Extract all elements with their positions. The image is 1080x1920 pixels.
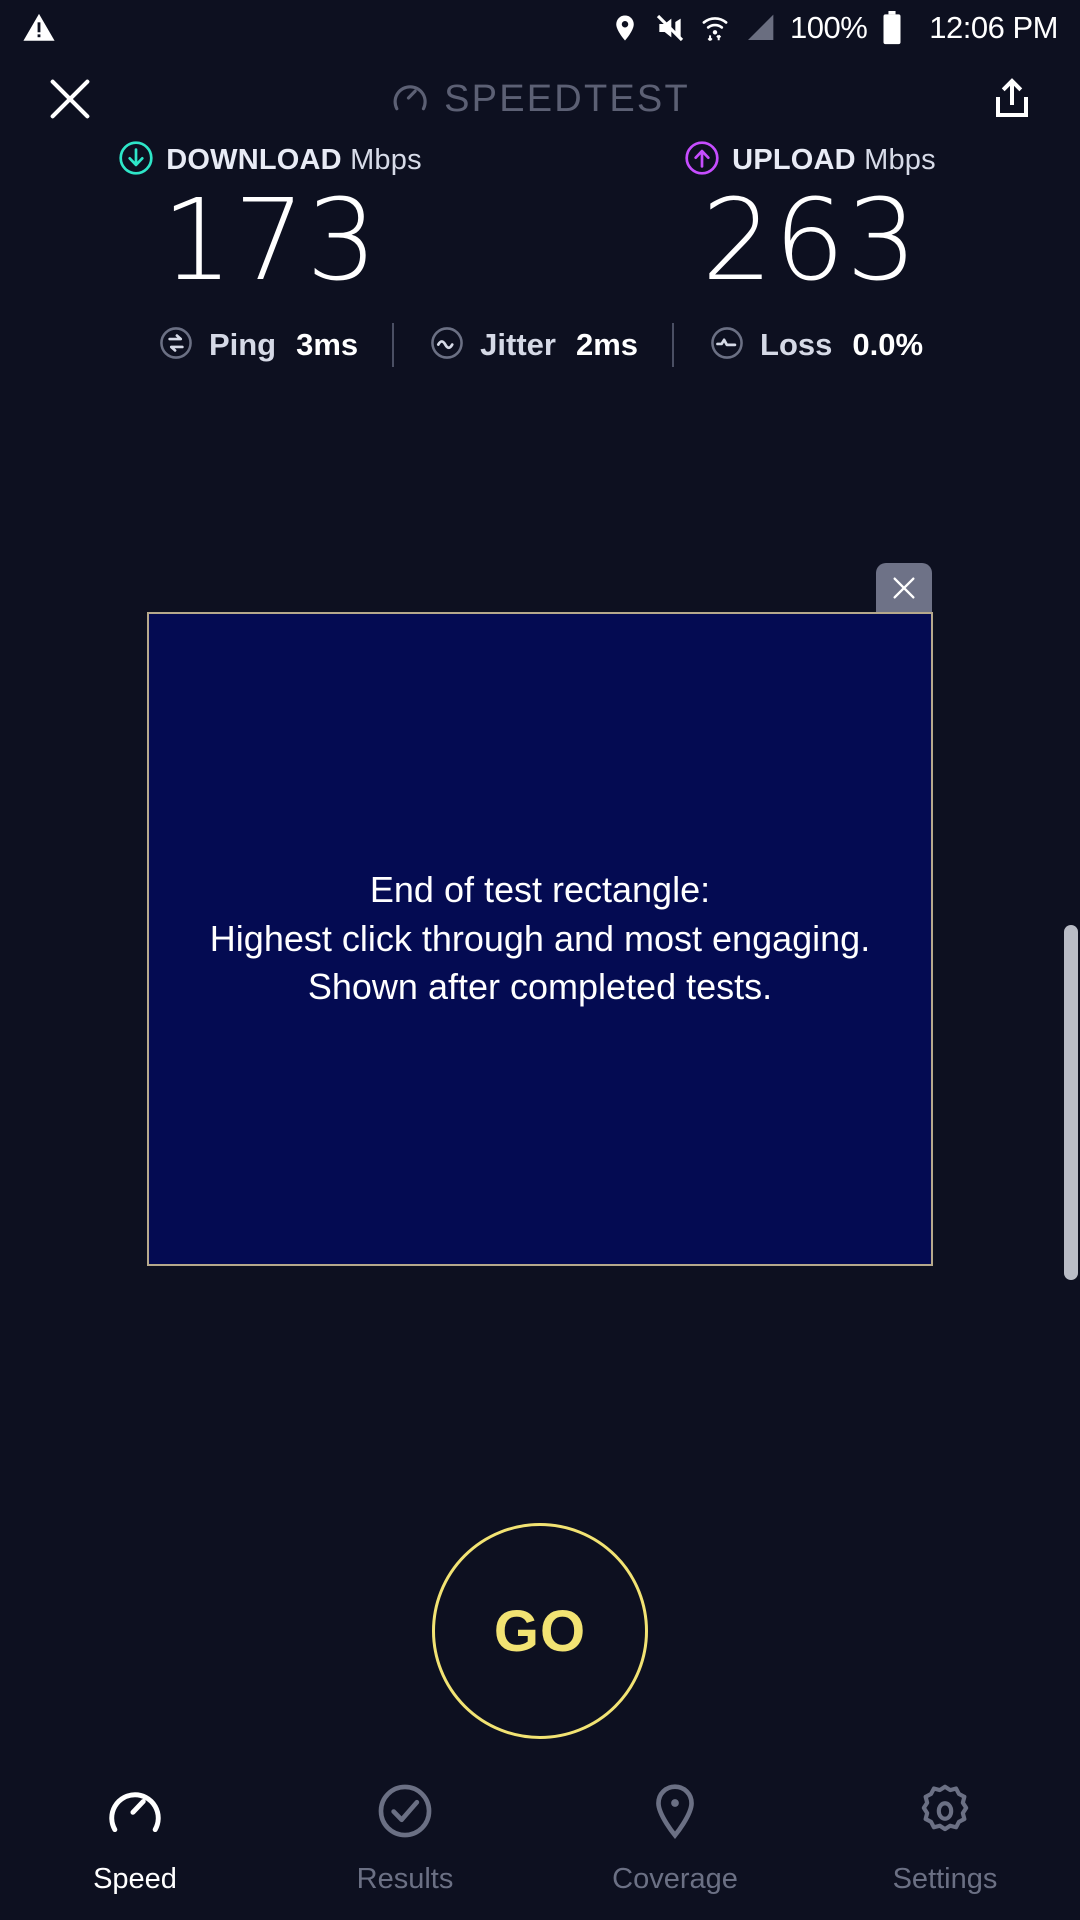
status-bar-left bbox=[22, 11, 56, 45]
ad-line-3: Shown after completed tests. bbox=[210, 963, 870, 1012]
nav-label-speed: Speed bbox=[93, 1863, 177, 1896]
network-stats-row: Ping 3ms Jitter 2ms bbox=[0, 323, 1080, 367]
ad-close-button[interactable] bbox=[876, 563, 932, 613]
close-button[interactable] bbox=[38, 67, 102, 131]
loss-value: 0.0% bbox=[852, 327, 923, 363]
ad-text: End of test rectangle: Highest click thr… bbox=[196, 866, 884, 1013]
bottom-navigation: Speed Results Coverage bbox=[0, 1770, 1080, 1920]
cellular-signal-icon bbox=[744, 13, 776, 43]
jitter-value: 2ms bbox=[576, 327, 638, 363]
jitter-stat: Jitter 2ms bbox=[394, 324, 672, 367]
ping-stat: Ping 3ms bbox=[123, 324, 392, 367]
upload-result: UPLOAD Mbps 263 bbox=[540, 140, 1080, 297]
location-pin-icon bbox=[610, 13, 640, 43]
nav-item-settings[interactable]: Settings bbox=[810, 1780, 1080, 1896]
status-bar-right: 100% 12:06 PM bbox=[610, 10, 1058, 46]
ad-line-2: Highest click through and most engaging. bbox=[210, 915, 870, 964]
wifi-icon bbox=[700, 12, 730, 44]
go-button[interactable]: GO bbox=[432, 1523, 648, 1739]
share-button[interactable] bbox=[982, 69, 1042, 129]
nav-label-settings: Settings bbox=[893, 1863, 998, 1896]
go-button-label: GO bbox=[494, 1598, 586, 1665]
status-bar: 100% 12:06 PM bbox=[0, 0, 1080, 56]
loss-stat: Loss 0.0% bbox=[674, 324, 957, 367]
vertical-scrollbar[interactable] bbox=[1064, 925, 1078, 1280]
upload-arrow-icon bbox=[684, 140, 720, 181]
nav-item-speed[interactable]: Speed bbox=[0, 1780, 270, 1896]
download-label: DOWNLOAD Mbps bbox=[166, 144, 422, 177]
warning-triangle-icon bbox=[22, 11, 56, 45]
advertisement-banner[interactable]: End of test rectangle: Highest click thr… bbox=[147, 612, 933, 1266]
download-label-row: DOWNLOAD Mbps bbox=[118, 140, 422, 181]
check-circle-icon bbox=[374, 1780, 436, 1847]
battery-percent-label: 100% bbox=[790, 10, 867, 46]
nav-item-results[interactable]: Results bbox=[270, 1780, 540, 1896]
gear-icon bbox=[914, 1780, 976, 1847]
upload-label: UPLOAD Mbps bbox=[732, 144, 936, 177]
status-bar-clock: 12:06 PM bbox=[929, 10, 1058, 46]
results-summary: DOWNLOAD Mbps 173 UPLOAD Mbps 263 bbox=[0, 140, 1080, 367]
app-header: SPEEDTEST bbox=[0, 56, 1080, 142]
jitter-icon bbox=[428, 324, 466, 367]
ad-line-1: End of test rectangle: bbox=[210, 866, 870, 915]
speedometer-icon bbox=[104, 1780, 166, 1847]
battery-full-icon bbox=[881, 11, 903, 45]
ping-value: 3ms bbox=[296, 327, 358, 363]
speedometer-icon bbox=[390, 77, 430, 122]
nav-label-results: Results bbox=[357, 1863, 454, 1896]
jitter-label: Jitter bbox=[480, 327, 556, 363]
ping-label: Ping bbox=[209, 327, 276, 363]
loss-label: Loss bbox=[760, 327, 832, 363]
brand-logo: SPEEDTEST bbox=[390, 77, 690, 122]
speedtest-app-screen: 100% 12:06 PM SPEEDTEST bbox=[0, 0, 1080, 1920]
speed-row: DOWNLOAD Mbps 173 UPLOAD Mbps 263 bbox=[0, 140, 1080, 297]
brand-title: SPEEDTEST bbox=[444, 78, 690, 121]
upload-label-row: UPLOAD Mbps bbox=[684, 140, 936, 181]
nav-label-coverage: Coverage bbox=[612, 1863, 738, 1896]
close-icon bbox=[888, 572, 920, 604]
nav-item-coverage[interactable]: Coverage bbox=[540, 1780, 810, 1896]
ping-icon bbox=[157, 324, 195, 367]
volume-mute-icon bbox=[654, 12, 686, 44]
loss-icon bbox=[708, 324, 746, 367]
location-pin-icon bbox=[644, 1780, 706, 1847]
download-result: DOWNLOAD Mbps 173 bbox=[0, 140, 540, 297]
download-arrow-icon bbox=[118, 140, 154, 181]
upload-value: 263 bbox=[702, 185, 919, 297]
download-value: 173 bbox=[162, 185, 379, 297]
